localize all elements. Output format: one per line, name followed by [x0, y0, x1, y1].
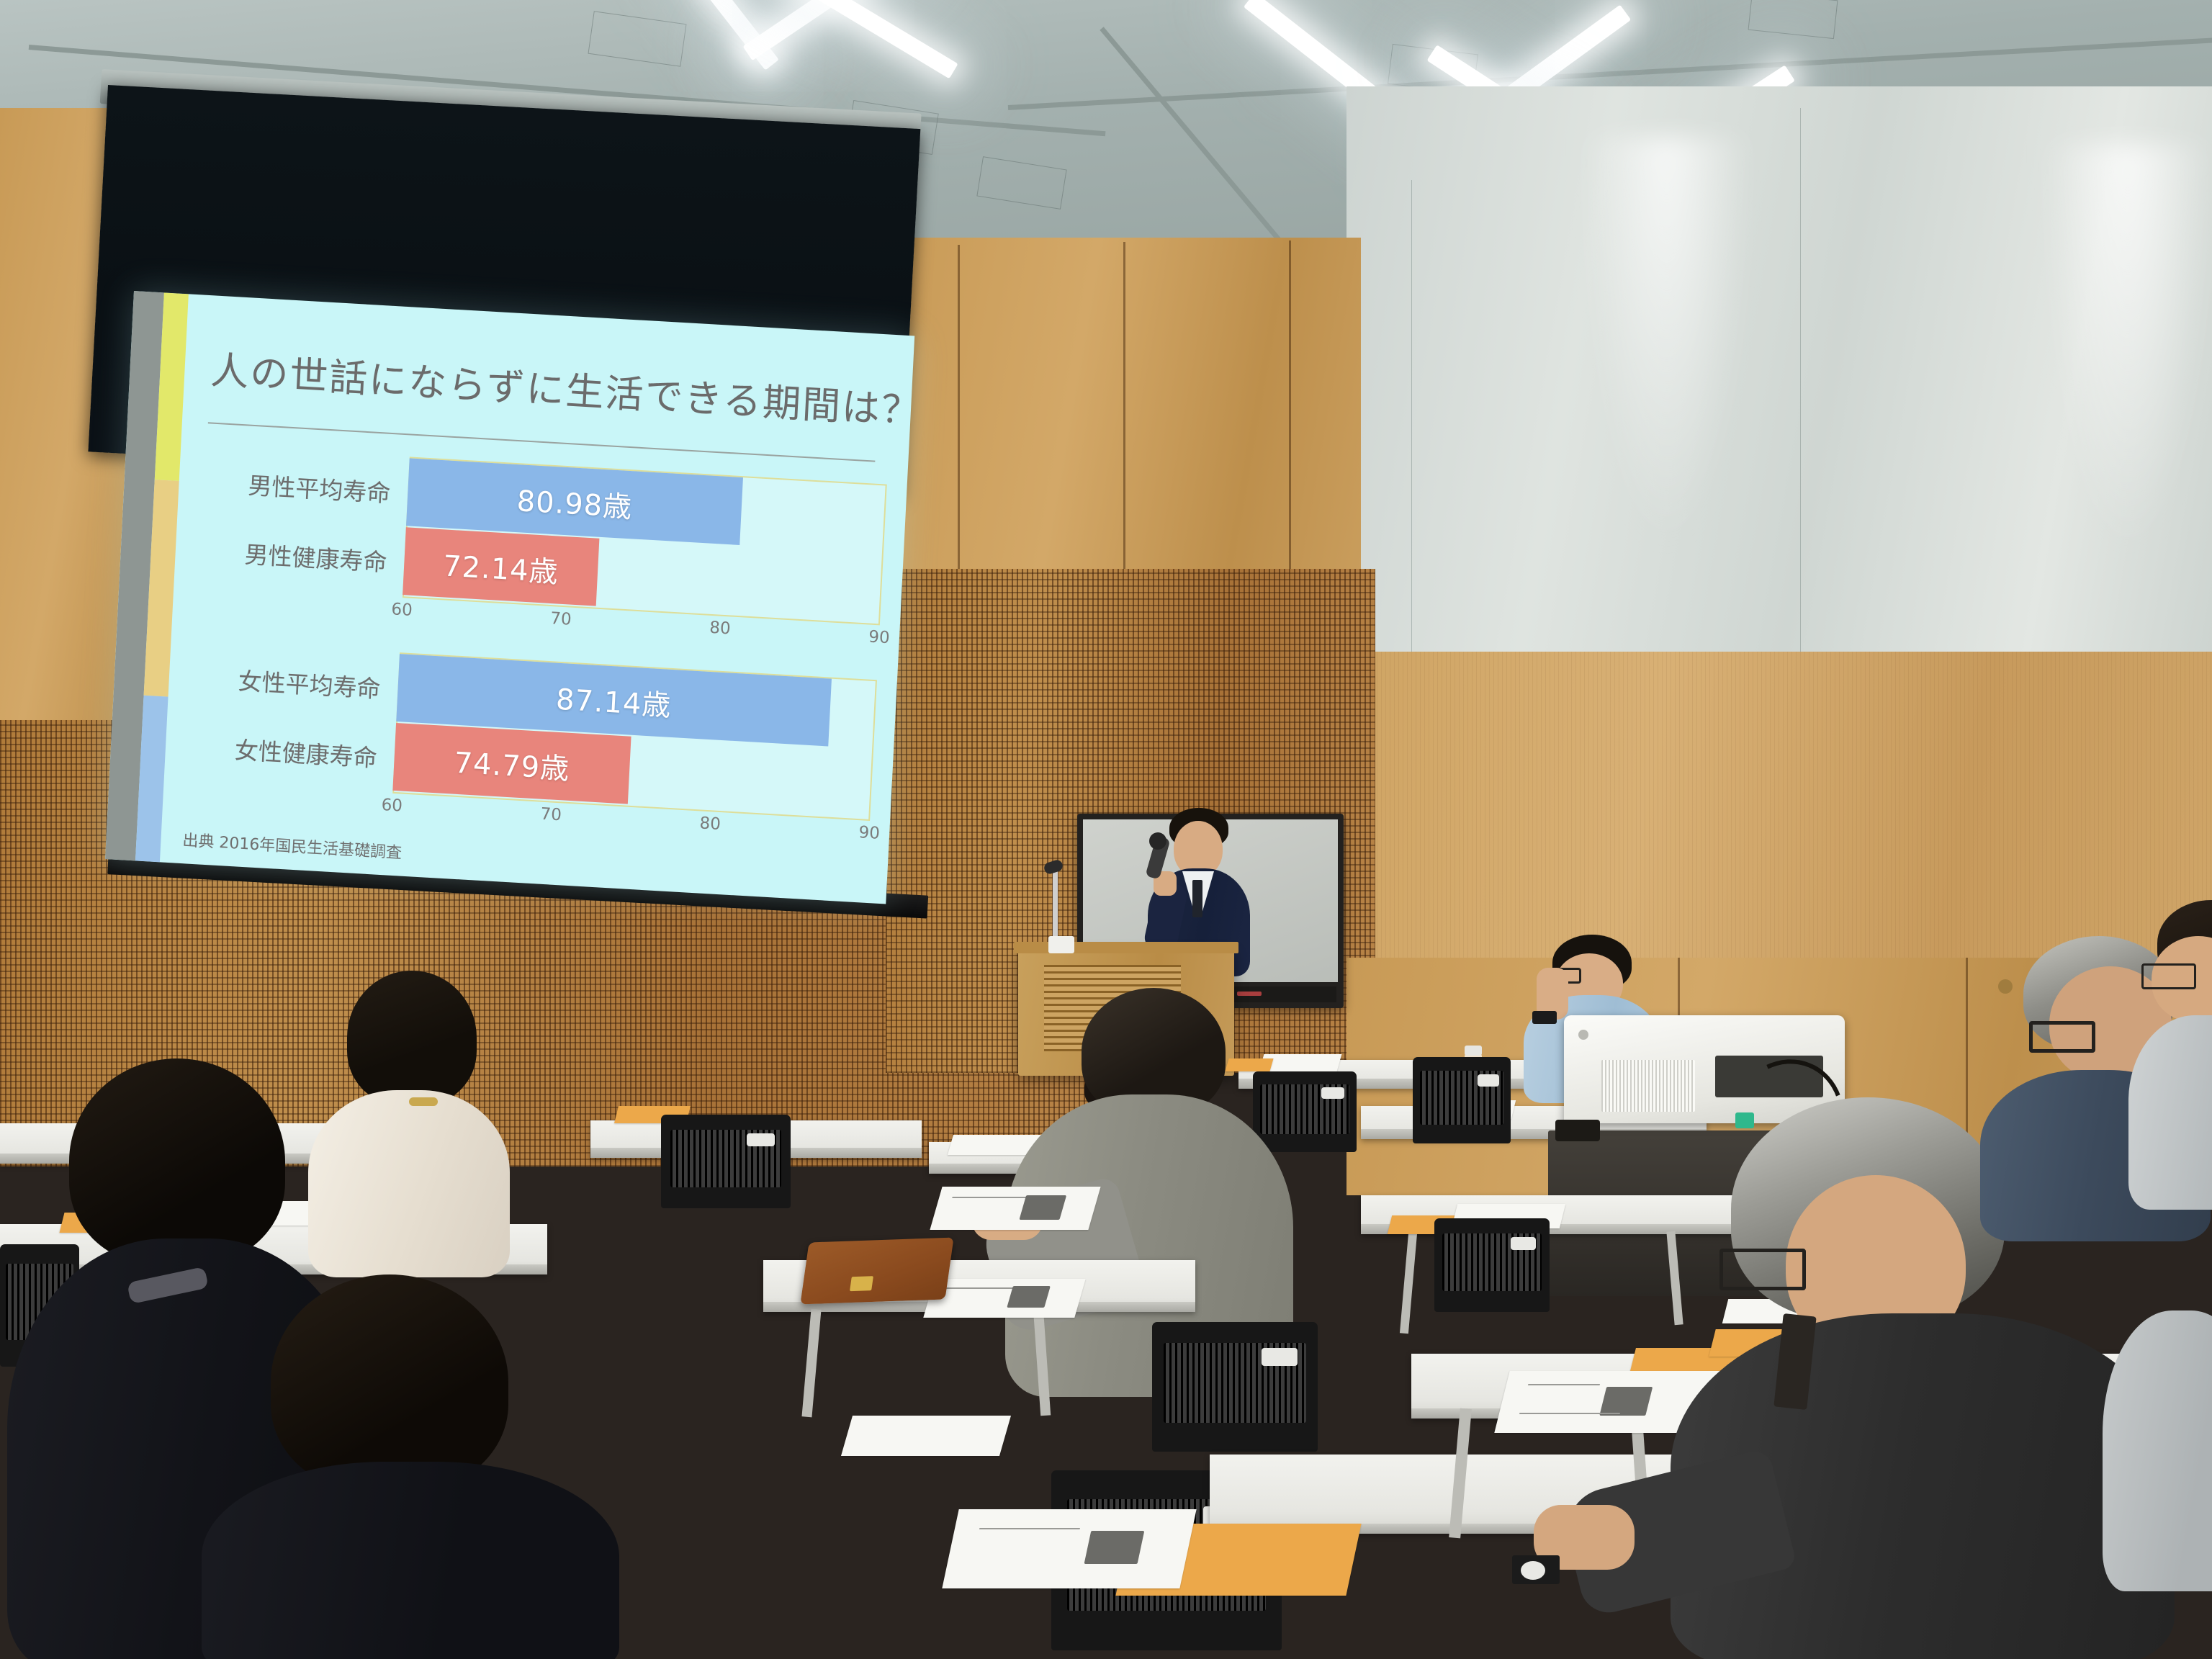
- podium-cup: [1048, 936, 1074, 953]
- wall-wainscot-right: [1346, 652, 2212, 961]
- attendee-front-left-dark-jacket: [202, 1274, 634, 1659]
- wall-wash-light: [1584, 137, 1750, 540]
- chart-category-label: 女性健康寿命: [182, 728, 378, 773]
- chart-bar-label: 72.14歳: [442, 542, 559, 590]
- handout-booklet: [930, 1187, 1100, 1230]
- chart-axis-tick: 90: [858, 823, 881, 843]
- glasses-icon: [1719, 1249, 1806, 1290]
- chart-axis-tick: 80: [709, 619, 732, 639]
- chart-bar-men-healthy: 72.14歳: [403, 527, 599, 606]
- chart-panel-men: 男性平均寿命 男性健康寿命 80.98歳 72.14歳 60708090: [172, 438, 894, 665]
- chart-bar-label: 74.79歳: [454, 739, 571, 788]
- chart-plot-men: 80.98歳 72.14歳: [403, 457, 887, 625]
- attendee-torso: [2128, 1015, 2212, 1210]
- attendee-right-near: [2103, 1282, 2212, 1584]
- attendee-right-rear-grey-top: [2128, 900, 2212, 1202]
- attendee-torso: [2103, 1310, 2212, 1591]
- chart-bar-label: 87.14歳: [555, 676, 673, 724]
- chart-bar-women-healthy: 74.79歳: [392, 723, 631, 804]
- attendee-hair: [69, 1058, 285, 1264]
- chart-category-label: 男性平均寿命: [196, 463, 392, 508]
- wall-seam: [1411, 180, 1412, 684]
- projected-slide: 人の世話にならずに生活できる期間は？ 男性平均寿命 男性健康寿命 80.98歳 …: [105, 291, 914, 904]
- chart-axis-tick: 60: [381, 796, 403, 816]
- wall-seam: [1289, 240, 1291, 579]
- microphone-stand: [1053, 868, 1058, 938]
- handout-booklet: [841, 1416, 1011, 1456]
- chart-axis-tick: 70: [540, 805, 562, 825]
- wall-seam: [958, 245, 960, 576]
- glasses-icon: [2029, 1021, 2095, 1053]
- chair-mid-right: [1434, 1218, 1550, 1312]
- necklace: [409, 1097, 438, 1106]
- handout-booklet: [942, 1509, 1196, 1588]
- table-leg: [1400, 1233, 1417, 1334]
- chart-category-label: 男性健康寿命: [192, 532, 388, 577]
- table-leg: [801, 1309, 821, 1418]
- attendee-hair: [271, 1274, 508, 1491]
- chart-axis-tick: 90: [868, 628, 891, 648]
- chart-plot-women: 87.14歳 74.79歳: [392, 652, 877, 821]
- chair-left-far: [661, 1115, 791, 1208]
- chart-axis-tick: 80: [699, 814, 721, 834]
- chart-bar-label: 80.98歳: [516, 477, 634, 526]
- presenter-tie: [1192, 880, 1202, 917]
- podium-top: [1014, 942, 1238, 953]
- wristwatch: [1532, 1011, 1557, 1024]
- projector-indicator: [1578, 1030, 1588, 1040]
- briefcase: [800, 1238, 953, 1305]
- lecture-room-photo: 人の世話にならずに生活できる期間は？ 男性平均寿命 男性健康寿命 80.98歳 …: [0, 0, 2212, 1659]
- wall-seam: [1800, 108, 1801, 684]
- chart-axis-tick: 60: [391, 600, 413, 620]
- bottle-cap: [1465, 1046, 1482, 1056]
- wristwatch: [1512, 1555, 1560, 1584]
- glasses-icon: [2141, 963, 2196, 989]
- chart-axis-tick: 70: [550, 609, 572, 629]
- chair-back-right: [1413, 1057, 1511, 1143]
- handout-booklet: [923, 1279, 1085, 1318]
- chair-mid-center: [1152, 1322, 1318, 1452]
- chart-category-label: 女性平均寿命: [186, 659, 382, 704]
- wall-wash-light: [2045, 144, 2211, 547]
- cart-bracket: [1555, 1120, 1600, 1141]
- wall-seam: [1123, 242, 1125, 580]
- chart-panel-women: 女性平均寿命 女性健康寿命 87.14歳 74.79歳 60708090: [162, 634, 884, 860]
- slide-source-note: 出典 2016年国民生活基礎調査: [182, 827, 403, 863]
- slide-title: 人の世話にならずに生活できる期間は？: [210, 340, 892, 433]
- briefcase-clasp: [850, 1276, 873, 1291]
- attendee-torso: [202, 1462, 619, 1659]
